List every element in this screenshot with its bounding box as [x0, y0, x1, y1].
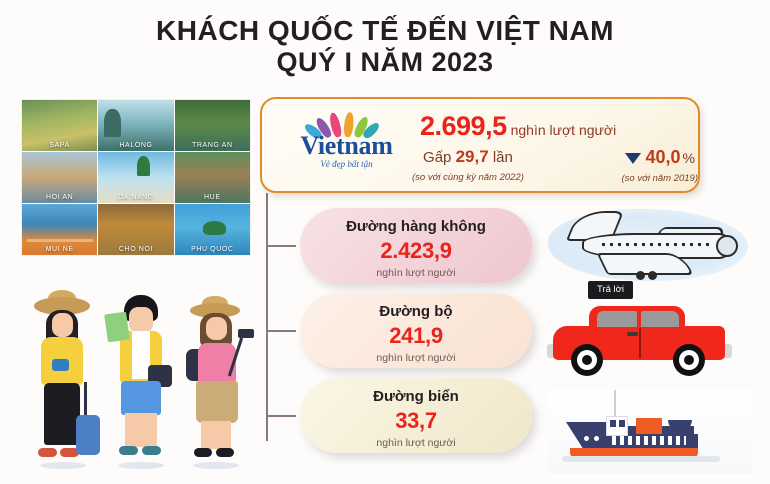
- ship-icon: [548, 390, 753, 474]
- photo-cho-noi: CHO NOI: [98, 204, 173, 255]
- change-note: (so với năm 2019): [622, 173, 699, 184]
- compare-suffix: lần: [493, 149, 513, 166]
- mode-card-sea: Đường biển 33,7 nghìn lượt người: [300, 378, 532, 453]
- tourist-woman-with-suitcase-icon: [28, 297, 98, 465]
- photo-label: HUE: [175, 194, 250, 201]
- headline-value: 2.699,5: [420, 111, 507, 141]
- airplane-icon: Trả lời: [540, 205, 762, 285]
- photo-phu-quoc: PHU QUOC: [175, 204, 250, 255]
- infographic-page: KHÁCH QUỐC TẾ ĐẾN VIỆT NAM QUÝ I NĂM 202…: [0, 0, 770, 484]
- vietnam-tourism-logo: Vietnam Vẻ đẹp bất tận: [284, 109, 409, 183]
- connector-lines: [266, 193, 302, 441]
- mode-unit: nghìn lượt người: [300, 267, 532, 279]
- photo-hue: HUE: [175, 152, 250, 203]
- photo-da-nang: DA NANG: [98, 152, 173, 203]
- mode-value: 2.423,9: [300, 238, 532, 264]
- tourists-illustration: [22, 268, 257, 473]
- reply-tooltip[interactable]: Trả lời: [588, 281, 633, 299]
- photo-label: TRANG AN: [175, 142, 250, 149]
- photo-label: HOI AN: [22, 194, 97, 201]
- mode-value: 33,7: [300, 408, 532, 434]
- headline-unit: nghìn lượt người: [511, 122, 617, 138]
- photo-sapa: SAPA: [22, 100, 97, 151]
- photo-label: MUI NE: [22, 246, 97, 253]
- headline-metric: 2.699,5nghìn lượt người: [420, 111, 690, 142]
- photo-label: DA NANG: [98, 194, 173, 201]
- compare-prefix: Gấp: [423, 149, 451, 166]
- photo-label: SAPA: [22, 142, 97, 149]
- destination-photo-collage: SAPA HALONG TRANG AN HOI AN DA NANG HUE …: [22, 100, 250, 255]
- photo-label: CHO NOI: [98, 246, 173, 253]
- arrow-down-icon: [625, 153, 641, 164]
- photo-mui-ne: MUI NE: [22, 204, 97, 255]
- change-value: 40,0: [646, 147, 681, 167]
- comparison-vs-2019: 40,0% (so với năm 2019): [622, 147, 699, 184]
- mode-value: 241,9: [300, 323, 532, 349]
- photo-label: PHU QUOC: [175, 246, 250, 253]
- photo-trang-an: TRANG AN: [175, 100, 250, 151]
- photo-label: HALONG: [98, 142, 173, 149]
- photo-hoi-an: HOI AN: [22, 152, 97, 203]
- logo-tagline: Vẻ đẹp bất tận: [284, 159, 409, 169]
- mode-name: Đường biển: [300, 388, 532, 405]
- page-title: KHÁCH QUỐC TẾ ĐẾN VIỆT NAM QUÝ I NĂM 202…: [0, 14, 770, 79]
- comparison-row: Gấp 29,7 lần (so với cùng kỳ năm 2022) 4…: [412, 147, 698, 184]
- compare-note: (so với cùng kỳ năm 2022): [412, 172, 524, 183]
- tourist-man-with-map-icon: [108, 293, 174, 465]
- comparison-vs-2022: Gấp 29,7 lần (so với cùng kỳ năm 2022): [412, 147, 524, 183]
- mode-unit: nghìn lượt người: [300, 352, 532, 364]
- logo-wordmark: Vietnam: [284, 131, 409, 161]
- summary-stat-card: Vietnam Vẻ đẹp bất tận 2.699,5nghìn lượt…: [260, 97, 700, 193]
- compare-value: 29,7: [456, 147, 489, 166]
- photo-halong: HALONG: [98, 100, 173, 151]
- mode-unit: nghìn lượt người: [300, 437, 532, 449]
- mode-card-air: Đường hàng không 2.423,9 nghìn lượt ngườ…: [300, 208, 532, 283]
- title-line-2: QUÝ I NĂM 2023: [0, 47, 770, 79]
- percent-symbol: %: [683, 150, 695, 166]
- mode-name: Đường bộ: [300, 303, 532, 320]
- tourist-woman-with-selfie-stick-icon: [182, 301, 250, 465]
- mode-card-road: Đường bộ 241,9 nghìn lượt người: [300, 293, 532, 368]
- title-line-1: KHÁCH QUỐC TẾ ĐẾN VIỆT NAM: [0, 14, 770, 47]
- mode-name: Đường hàng không: [300, 218, 532, 235]
- car-icon: [545, 300, 745, 372]
